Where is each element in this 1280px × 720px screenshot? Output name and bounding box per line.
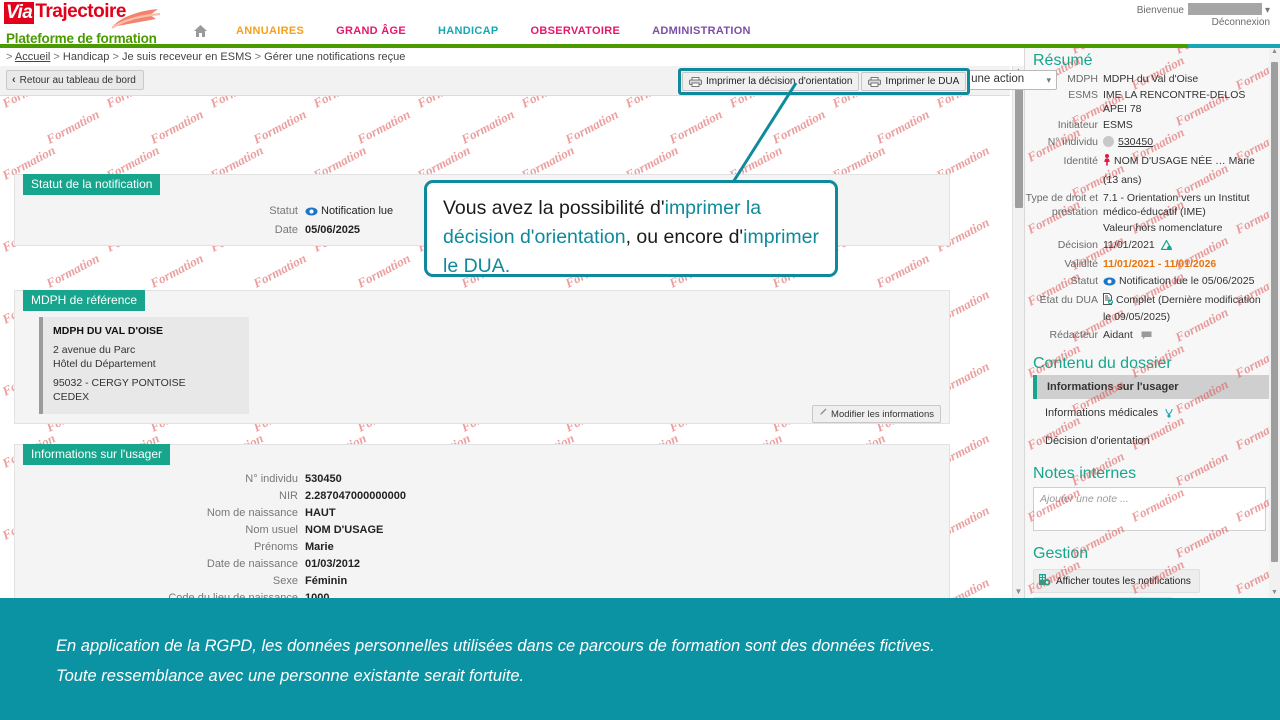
nav-item-grand-age[interactable]: GRAND ÂGE [320, 25, 422, 37]
usager-row: Date de naissance01/03/2012 [15, 556, 949, 573]
resume-row-initiateur: Initiateur ESMS [1025, 118, 1266, 132]
usager-row: Nom usuelNOM D'USAGE [15, 522, 949, 539]
app-header: ViaTrajectoire Plateforme de formation A… [0, 0, 1280, 48]
resume-row-statut: Statut Notification lue le 05/06/2025 [1025, 273, 1266, 291]
resume-etatdua-text: Complet (Dernière modification le 09/05/… [1103, 294, 1261, 323]
resume-row-typedroit: Type de droit et prestation 7.1 - Orient… [1025, 191, 1266, 219]
welcome-label: Bienvenue [1137, 5, 1184, 16]
mdph-line3: 95032 - CERGY PONTOISE [53, 376, 241, 390]
usager-value: Marie [305, 539, 334, 556]
resume-value: MDPH du Val d'Oise [1103, 72, 1263, 86]
chevron-down-icon[interactable]: ▾ [1265, 5, 1270, 16]
sidebar-scrollbar-thumb[interactable] [1271, 62, 1278, 562]
welcome-row: Bienvenue▾ [1137, 3, 1270, 16]
field-statut-value: Notification lue [305, 203, 393, 222]
chevron-down-icon: ▾ [1046, 75, 1051, 86]
back-to-dashboard-label: Retour au tableau de bord [20, 75, 136, 86]
logo-via-text: Via [4, 2, 34, 24]
usager-row: NIR2.287047000000000 [15, 488, 949, 505]
resume-value-wrap: Notification lue le 05/06/2025 [1103, 273, 1263, 291]
resume-key: Etat du DUA [1025, 293, 1103, 325]
main-scrollbar[interactable]: ▲ ▼ [1012, 66, 1024, 598]
usager-row: Code du lieu de naissance1000 [15, 590, 949, 598]
sidebar-item-informations-medicales[interactable]: Informations médicales [1033, 401, 1274, 427]
resume-row-etatdua: Etat du DUA Complet (Dernière modificati… [1025, 293, 1266, 325]
edit-informations-button[interactable]: Modifier les informations [812, 405, 941, 423]
resume-key: ESMS [1025, 88, 1103, 116]
resume-key: Type de droit et prestation [1025, 191, 1103, 219]
resume-key: Identité [1025, 153, 1103, 189]
sidebar-item-informations-usager[interactable]: Informations sur l'usager [1033, 375, 1274, 399]
eye-icon [1103, 275, 1116, 291]
logout-link[interactable]: Déconnexion [1212, 17, 1270, 28]
usager-row: N° individu530450 [15, 471, 949, 488]
mdph-address-card: MDPH DU VAL D'OISE 2 avenue du Parc Hôte… [39, 317, 249, 414]
resume-value-wrap: 11/01/2021 [1103, 237, 1263, 255]
resume-key: N° individu [1025, 134, 1103, 151]
rgpd-footer-banner: En application de la RGPD, les données p… [0, 598, 1280, 720]
resume-row-esms: ESMS IME LA RENCONTRE-DELOS APEI 78 [1025, 88, 1266, 116]
nav-item-handicap[interactable]: HANDICAP [422, 25, 514, 37]
breadcrumb-item-handicap[interactable]: Handicap [63, 51, 109, 63]
usager-value: NOM D'USAGE [305, 522, 383, 539]
viatrajectoire-logo[interactable]: ViaTrajectoire Plateforme de formation [4, 2, 164, 48]
usager-value: 2.287047000000000 [305, 488, 406, 505]
main-content: FormationFormationFormationFormationForm… [0, 66, 1024, 598]
internal-note-input[interactable]: Ajouter une note ... [1033, 487, 1266, 531]
usager-key: Date de naissance [15, 556, 305, 573]
resume-row-decision: Décision 11/01/2021 [1025, 237, 1266, 255]
breadcrumb-item-receveur[interactable]: Je suis receveur en ESMS [122, 51, 252, 63]
resume-key [1025, 221, 1103, 235]
panel-mdph-reference: MDPH de référence Modifier les informati… [14, 290, 950, 424]
edit-informations-label: Modifier les informations [831, 409, 934, 420]
username-redacted [1188, 3, 1262, 15]
breadcrumb-sep-0: > [6, 51, 12, 63]
sidebar-scrollbar[interactable]: ▲ ▼ [1269, 48, 1280, 598]
chevron-left-icon: ‹ [12, 74, 16, 86]
warning-triangle-icon [1161, 239, 1172, 255]
resume-redacteur-text: Aidant [1103, 329, 1133, 341]
resume-key: Validité [1025, 257, 1103, 271]
resume-statut-text: Notification lue le 05/06/2025 [1119, 275, 1254, 287]
resume-value-wrap: NOM D'USAGE NÉE … Marie (13 ans) [1103, 153, 1263, 189]
instruction-callout: Vous avez la possibilité d'imprimer la d… [424, 180, 838, 277]
resume-row-individu: N° individu 530450 [1025, 134, 1266, 151]
usager-key: Nom usuel [15, 522, 305, 539]
breadcrumb-item-accueil[interactable]: Accueil [15, 51, 50, 63]
resume-row-identite: Identité NOM D'USAGE NÉE … Marie (13 ans… [1025, 153, 1266, 189]
rgpd-line-1: En application de la RGPD, les données p… [56, 631, 1046, 661]
document-check-icon [1103, 293, 1113, 310]
breadcrumb-sep-1: > [53, 51, 59, 63]
rgpd-line-2: Toute ressemblance avec une personne exi… [56, 661, 1046, 691]
nav-item-administration[interactable]: ADMINISTRATION [636, 25, 767, 37]
resume-value: 11/01/2021 - 11/01/2026 [1103, 257, 1263, 271]
pencil-icon [819, 408, 827, 420]
panel-mdph-title: MDPH de référence [23, 290, 145, 311]
resume-value-wrap: 530450 [1103, 134, 1263, 151]
panel-statut-title: Statut de la notification [23, 174, 160, 195]
usager-value: 530450 [305, 471, 342, 488]
resume-key: Statut [1025, 273, 1103, 291]
usager-row: Nom de naissanceHAUT [15, 505, 949, 522]
sidebar-notes-title: Notes internes [1025, 461, 1280, 485]
arrow-icon [110, 7, 162, 31]
main-nav: ANNUAIRES GRAND ÂGE HANDICAP OBSERVATOIR… [180, 18, 767, 44]
medical-icon [1164, 408, 1174, 421]
right-sidebar: FormationFormationFormationFormationForm… [1024, 48, 1280, 598]
rgpd-text: En application de la RGPD, les données p… [56, 631, 1046, 691]
comment-icon[interactable] [1141, 329, 1152, 345]
eye-icon [305, 205, 318, 222]
resume-key: Initiateur [1025, 118, 1103, 132]
resume-identite-text: NOM D'USAGE NÉE … Marie (13 ans) [1103, 155, 1255, 186]
app-root: ViaTrajectoire Plateforme de formation A… [0, 0, 1280, 720]
field-statut-label: Statut [15, 203, 305, 222]
breadcrumb-sep-2: > [112, 51, 118, 63]
resume-row-mdph: MDPH MDPH du Val d'Oise [1025, 72, 1266, 86]
sidebar-contenu-title: Contenu du dossier [1025, 351, 1280, 375]
resume-value: 7.1 - Orientation vers un Institut médic… [1103, 191, 1263, 219]
breadcrumb-item-gerer: Gérer une notifications reçue [264, 51, 405, 63]
resume-value: Valeur hors nomenclature [1103, 221, 1263, 235]
mdph-name: MDPH DU VAL D'OISE [53, 324, 241, 338]
printer-icon [868, 77, 881, 87]
back-to-dashboard-button[interactable]: ‹ Retour au tableau de bord [6, 70, 144, 90]
sidebar-resume-title: Résumé [1025, 48, 1280, 72]
resume-key: Rédacteur [1025, 327, 1103, 345]
usager-key: Sexe [15, 573, 305, 590]
resume-individu-link[interactable]: 530450 [1118, 136, 1153, 148]
user-area: Bienvenue▾ Déconnexion [1102, 0, 1272, 30]
field-date-label: Date [15, 222, 305, 239]
panel-usager-title: Informations sur l'usager [23, 444, 170, 465]
scroll-up-arrow-icon[interactable]: ▲ [1269, 48, 1280, 55]
sidebar-item-decision-orientation[interactable]: Décision d'orientation [1033, 429, 1274, 453]
print-dua-button[interactable]: Imprimer le DUA [861, 72, 966, 91]
resume-decision-date: 11/01/2021 [1103, 239, 1155, 251]
avatar-circle-icon [1103, 136, 1114, 147]
callout-text-part1: Vous avez la possibilité d' [443, 197, 665, 219]
usager-key: Code du lieu de naissance [15, 590, 305, 598]
show-all-notifications-label: Afficher toutes les notifications [1056, 576, 1191, 587]
usager-key: Prénoms [15, 539, 305, 556]
field-statut-text: Notification lue [321, 205, 393, 217]
usager-row: SexeFéminin [15, 573, 949, 590]
usager-key: Nom de naissance [15, 505, 305, 522]
resume-row-nomenclature: Valeur hors nomenclature [1025, 221, 1266, 235]
nav-item-annuaires[interactable]: ANNUAIRES [220, 25, 320, 37]
resume-row-redacteur: Rédacteur Aidant [1025, 327, 1266, 345]
mdph-line4: CEDEX [53, 390, 241, 404]
callout-text-part2: , ou encore d' [626, 226, 744, 248]
mdph-line2: Hôtel du Département [53, 357, 241, 371]
usager-value: HAUT [305, 505, 336, 522]
nav-item-observatoire[interactable]: OBSERVATOIRE [515, 25, 637, 37]
person-female-icon [1103, 154, 1111, 172]
sidebar-gestion-title: Gestion [1025, 541, 1280, 565]
home-icon[interactable] [180, 24, 220, 38]
sidebar-item-label: Informations médicales [1045, 407, 1158, 419]
usager-row: PrénomsMarie [15, 539, 949, 556]
usager-value: 01/03/2012 [305, 556, 360, 573]
resume-key: Décision [1025, 237, 1103, 255]
panel-informations-usager: Informations sur l'usager N° individu530… [14, 444, 950, 598]
mdph-line1: 2 avenue du Parc [53, 343, 241, 357]
usager-value: Féminin [305, 573, 347, 590]
show-all-notifications-button[interactable]: Afficher toutes les notifications [1033, 569, 1200, 593]
usager-key: N° individu [15, 471, 305, 488]
print-dua-label: Imprimer le DUA [885, 76, 959, 87]
resume-value-wrap: Complet (Dernière modification le 09/05/… [1103, 293, 1263, 325]
resume-value: ESMS [1103, 118, 1263, 132]
scroll-down-arrow-icon[interactable]: ▼ [1269, 589, 1280, 596]
building-icon [1038, 573, 1051, 589]
resume-value-wrap: Aidant [1103, 327, 1263, 345]
usager-value: 1000 [305, 590, 329, 598]
resume-value: IME LA RENCONTRE-DELOS APEI 78 [1103, 88, 1263, 116]
field-date-value: 05/06/2025 [305, 222, 360, 239]
breadcrumb-sep-3: > [255, 51, 261, 63]
scroll-down-arrow-icon[interactable]: ▼ [1013, 587, 1024, 596]
callout-pointer [600, 75, 830, 195]
scrollbar-thumb[interactable] [1015, 88, 1023, 208]
usager-key: NIR [15, 488, 305, 505]
resume-row-validite: Validité 11/01/2021 - 11/01/2026 [1025, 257, 1266, 271]
